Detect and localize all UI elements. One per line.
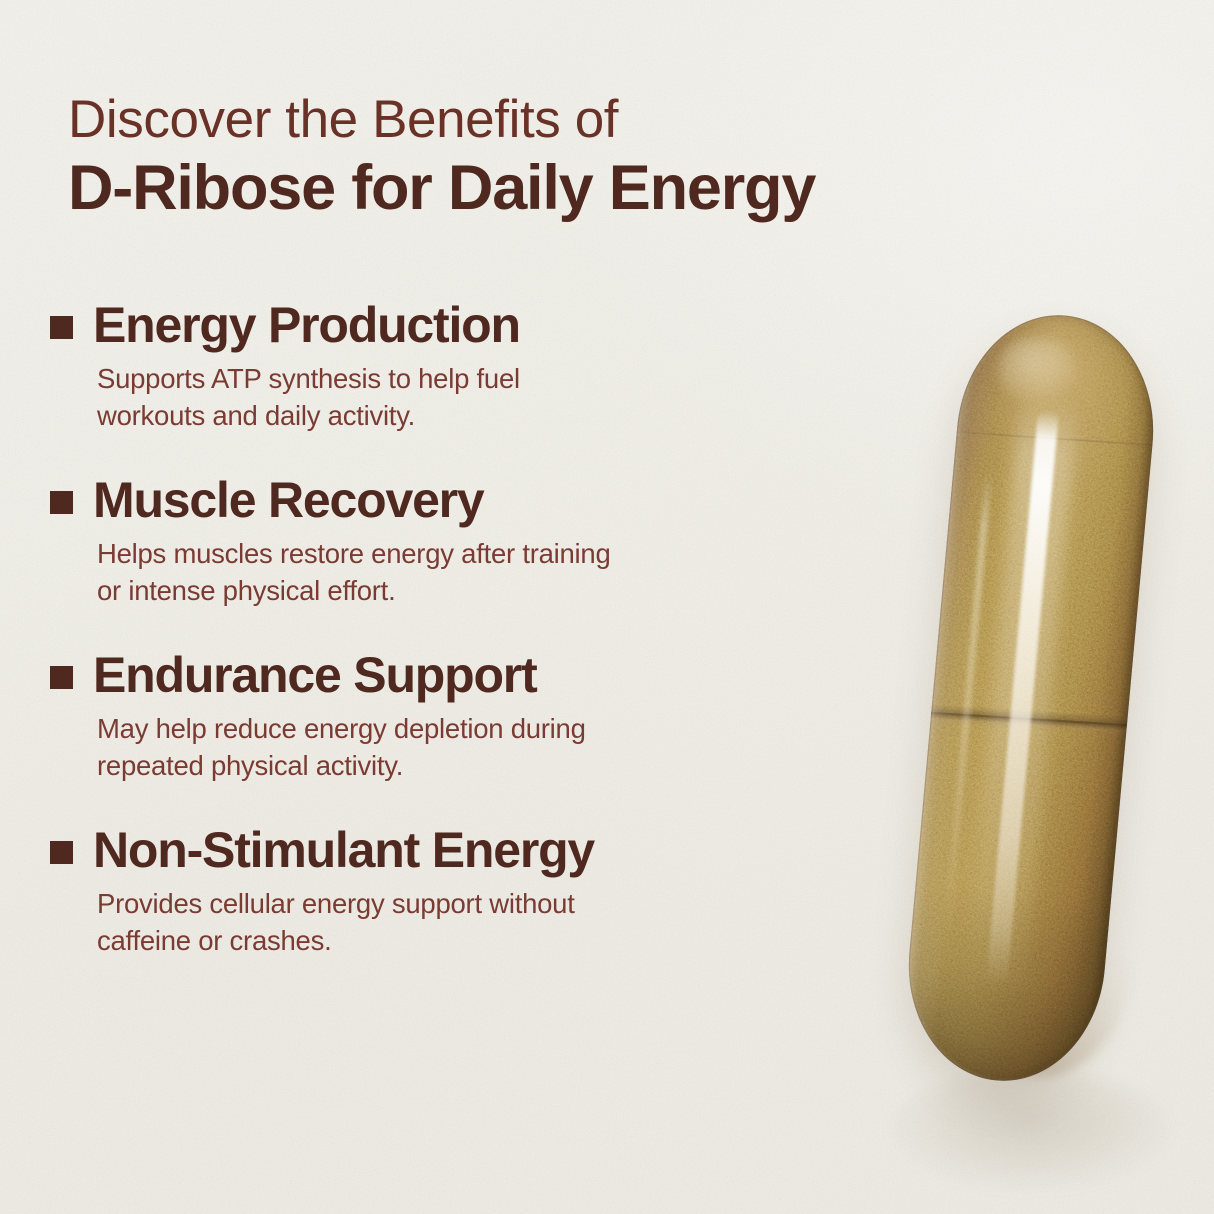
infographic-canvas: Discover the Benefits of D-Ribose for Da… bbox=[0, 0, 1214, 1214]
benefit-item: Energy Production Supports ATP synthesis… bbox=[50, 300, 850, 434]
benefit-description-line: Helps muscles restore energy after train… bbox=[97, 536, 737, 573]
product-image bbox=[828, 270, 1214, 1214]
benefit-description-line: caffeine or crashes. bbox=[97, 923, 737, 960]
benefit-title-row: Muscle Recovery bbox=[50, 475, 850, 525]
benefit-title: Muscle Recovery bbox=[93, 475, 484, 525]
benefits-list: Energy Production Supports ATP synthesis… bbox=[50, 300, 850, 960]
benefit-title-row: Non-Stimulant Energy bbox=[50, 825, 850, 875]
benefit-description-line: or intense physical effort. bbox=[97, 573, 737, 610]
square-bullet-icon bbox=[50, 316, 73, 339]
benefit-title: Non-Stimulant Energy bbox=[93, 825, 594, 875]
capsule-ground-shadow bbox=[890, 1070, 1170, 1190]
benefit-description-line: Provides cellular energy support without bbox=[97, 886, 737, 923]
benefit-description: Supports ATP synthesis to help fuel work… bbox=[97, 361, 737, 434]
square-bullet-icon bbox=[50, 841, 73, 864]
benefit-title: Energy Production bbox=[93, 300, 520, 350]
benefit-item: Endurance Support May help reduce energy… bbox=[50, 650, 850, 784]
headline-block: Discover the Benefits of D-Ribose for Da… bbox=[68, 92, 1048, 222]
benefit-description-line: Supports ATP synthesis to help fuel bbox=[97, 361, 737, 398]
headline-line-1: Discover the Benefits of bbox=[68, 92, 1048, 148]
benefit-item: Non-Stimulant Energy Provides cellular e… bbox=[50, 825, 850, 959]
benefit-item: Muscle Recovery Helps muscles restore en… bbox=[50, 475, 850, 609]
benefit-description: May help reduce energy depletion during … bbox=[97, 711, 737, 784]
benefit-description-line: May help reduce energy depletion during bbox=[97, 711, 737, 748]
benefit-description: Helps muscles restore energy after train… bbox=[97, 536, 737, 609]
benefit-description: Provides cellular energy support without… bbox=[97, 886, 737, 959]
benefit-description-line: workouts and daily activity. bbox=[97, 398, 737, 435]
benefit-title: Endurance Support bbox=[93, 650, 537, 700]
square-bullet-icon bbox=[50, 491, 73, 514]
square-bullet-icon bbox=[50, 666, 73, 689]
benefit-title-row: Endurance Support bbox=[50, 650, 850, 700]
benefit-title-row: Energy Production bbox=[50, 300, 850, 350]
benefit-description-line: repeated physical activity. bbox=[97, 748, 737, 785]
headline-line-2: D-Ribose for Daily Energy bbox=[68, 154, 1048, 222]
